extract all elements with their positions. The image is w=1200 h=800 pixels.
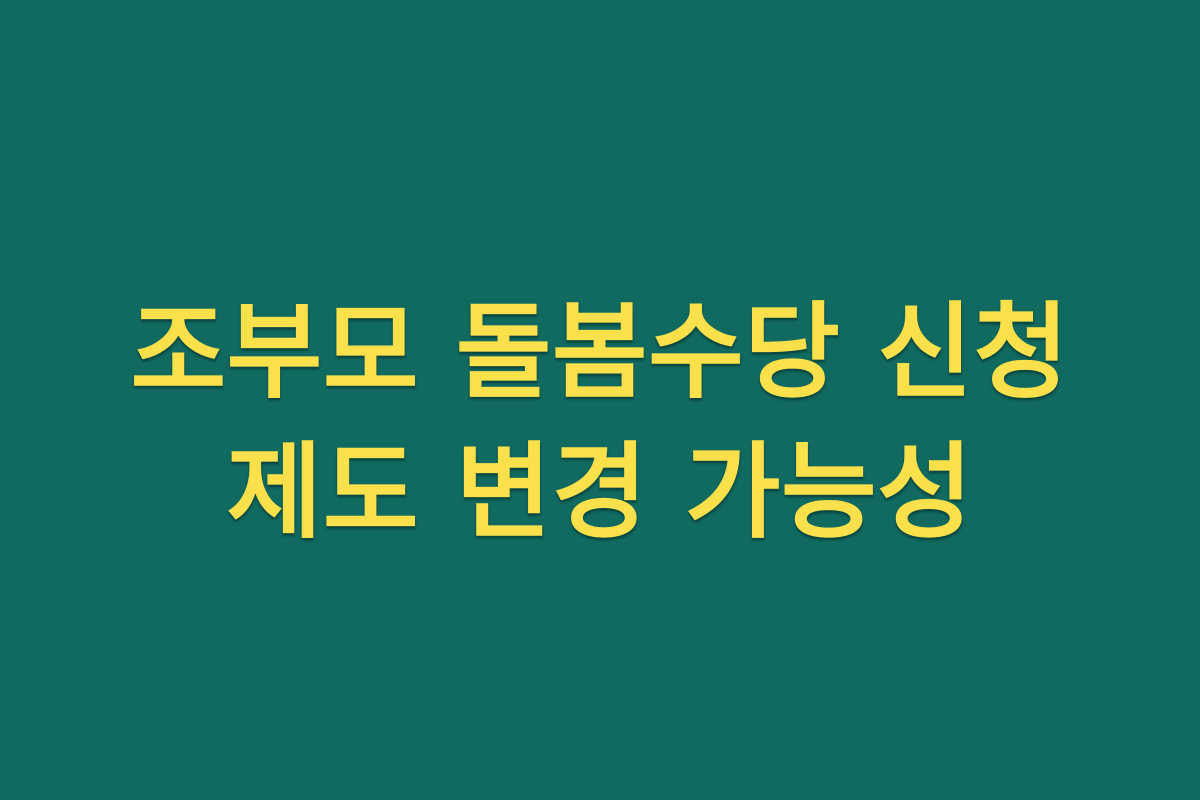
thumbnail-canvas: 조부모 돌봄수당 신청 제도 변경 가능성 [0,0,1200,800]
headline-block: 조부모 돌봄수당 신청 제도 변경 가능성 [0,282,1200,562]
headline-line-1: 조부모 돌봄수당 신청 [40,282,1160,422]
headline-line-2: 제도 변경 가능성 [40,422,1160,562]
